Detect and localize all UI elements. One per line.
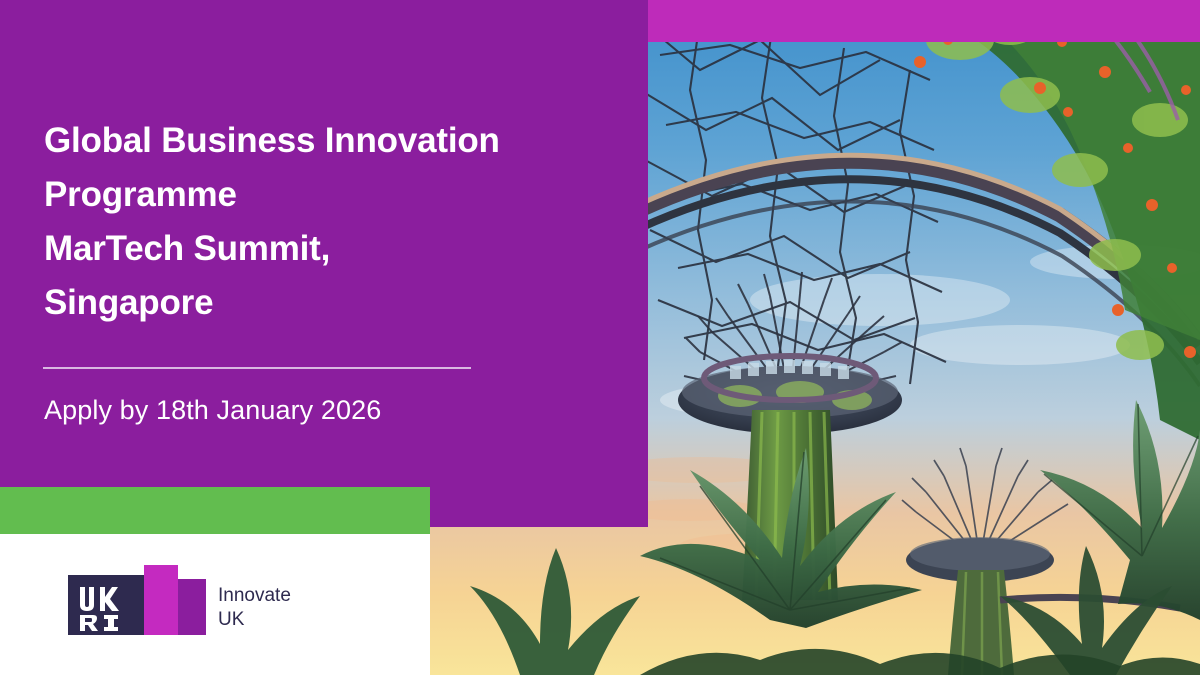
wordmark-line-2: UK — [218, 609, 245, 630]
headline-line-4: Singapore — [44, 276, 624, 330]
headline-line-2: Programme — [44, 168, 624, 222]
wordmark-line-1: Innovate — [218, 585, 291, 606]
ukri-innovate-uk-logo: Innovate UK — [66, 561, 316, 645]
logo-wordmark: Innovate UK — [218, 585, 291, 630]
ukri-mark — [68, 575, 144, 635]
logo-magenta-block — [144, 565, 206, 635]
headline-divider — [43, 367, 471, 369]
headline-line-3: MarTech Summit, — [44, 222, 624, 276]
page-title: Global Business Innovation Programme Mar… — [44, 114, 624, 330]
headline-line-1: Global Business Innovation — [44, 114, 624, 168]
green-accent-bar — [0, 487, 430, 534]
promotional-banner: Global Business Innovation Programme Mar… — [0, 0, 1200, 675]
deadline-text: Apply by 18th January 2026 — [44, 395, 381, 426]
